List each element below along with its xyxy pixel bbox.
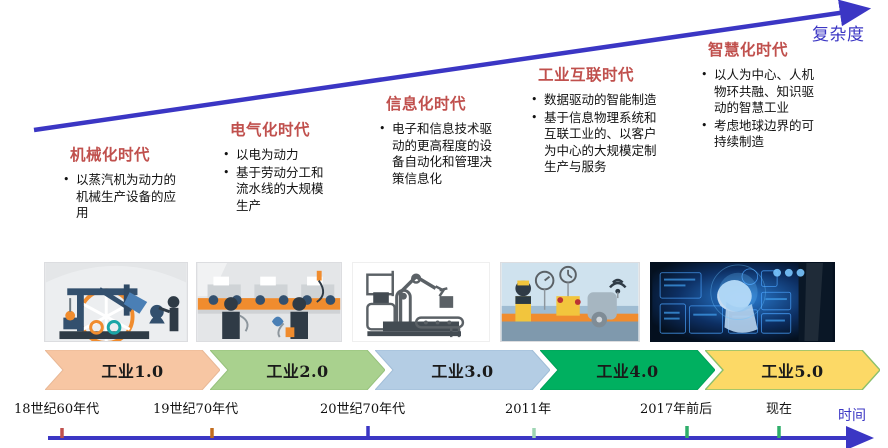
stage-chevron-label: 工业3.0 (431, 358, 493, 382)
era-block-informatization: 信息化时代 电子和信息技术驱动的更高程度的设备自动化和管理决策信息化 (378, 92, 494, 188)
industry-stage-chevrons: 工业1.0 工业2.0 工业3.0 工业4.0 工业5.0 (0, 350, 888, 390)
era-bullet-list: 数据驱动的智能制造 基于信息物理系统和互联工业的、以客户为中心的大规模定制生产与… (530, 92, 668, 176)
industrial-robot-illustration (352, 262, 490, 342)
stage-chevron-label: 工业2.0 (266, 358, 328, 382)
era-block-industrial-internet: 工业互联时代 数据驱动的智能制造 基于信息物理系统和互联工业的、以客户为中心的大… (530, 63, 668, 177)
assembly-line-illustration (196, 262, 342, 342)
year-label-5: 2017年前后 (640, 398, 712, 417)
year-label-2: 19世纪70年代 (153, 398, 238, 417)
year-label-4: 2011年 (505, 398, 551, 417)
year-label-now: 现在 (766, 398, 792, 417)
era-bullet-list: 以人为中心、人机物环共融、知识驱动的智慧工业 考虑地球边界的可持续制造 (700, 67, 818, 151)
era-title: 信息化时代 (386, 92, 494, 114)
list-item: 数据驱动的智能制造 (530, 92, 668, 109)
list-item: 考虑地球边界的可持续制造 (700, 118, 818, 151)
era-block-intelligentization: 智慧化时代 以人为中心、人机物环共融、知识驱动的智慧工业 考虑地球边界的可持续制… (700, 38, 818, 152)
industry-evolution-diagram: 复杂度 机械化时代 以蒸汽机为动力的机械生产设备的应用 电气化时代 以电为动力 … (0, 0, 888, 448)
era-block-electrification: 电气化时代 以电为动力 基于劳动分工和流水线的大规模生产 (222, 118, 334, 215)
era-bullet-list: 以蒸汽机为动力的机械生产设备的应用 (62, 172, 180, 222)
stage-chevron-label: 工业5.0 (761, 358, 823, 382)
time-axis (0, 424, 888, 448)
steam-machine-illustration (44, 262, 188, 342)
era-title: 电气化时代 (230, 118, 334, 140)
time-axis-label: 时间 (838, 405, 866, 425)
era-block-mechanization: 机械化时代 以蒸汽机为动力的机械生产设备的应用 (62, 143, 180, 223)
list-item: 基于信息物理系统和互联工业的、以客户为中心的大规模定制生产与服务 (530, 110, 668, 176)
complexity-axis-label: 复杂度 (812, 20, 865, 45)
list-item: 以电为动力 (222, 147, 334, 164)
stage-chevron-2[interactable]: 工业2.0 (210, 350, 385, 390)
stage-chevron-5[interactable]: 工业5.0 (705, 350, 880, 390)
list-item: 基于劳动分工和流水线的大规模生产 (222, 165, 334, 215)
list-item: 以蒸汽机为动力的机械生产设备的应用 (62, 172, 180, 222)
year-label-1: 18世纪60年代 (14, 398, 99, 417)
stage-chevron-label: 工业1.0 (101, 358, 163, 382)
era-bullet-list: 以电为动力 基于劳动分工和流水线的大规模生产 (222, 147, 334, 214)
smart-factory-iot-illustration (500, 262, 640, 342)
era-bullet-list: 电子和信息技术驱动的更高程度的设备自动化和管理决策信息化 (378, 121, 494, 187)
era-title: 工业互联时代 (538, 63, 668, 85)
era-title: 智慧化时代 (708, 38, 818, 60)
list-item: 电子和信息技术驱动的更高程度的设备自动化和管理决策信息化 (378, 121, 494, 187)
list-item: 以人为中心、人机物环共融、知识驱动的智慧工业 (700, 67, 818, 117)
digital-hand-interface-photo (650, 262, 835, 342)
stage-chevron-3[interactable]: 工业3.0 (375, 350, 550, 390)
stage-chevron-1[interactable]: 工业1.0 (45, 350, 220, 390)
stage-chevron-label: 工业4.0 (596, 358, 658, 382)
era-title: 机械化时代 (70, 143, 180, 165)
stage-chevron-4[interactable]: 工业4.0 (540, 350, 715, 390)
year-label-3: 20世纪70年代 (320, 398, 405, 417)
